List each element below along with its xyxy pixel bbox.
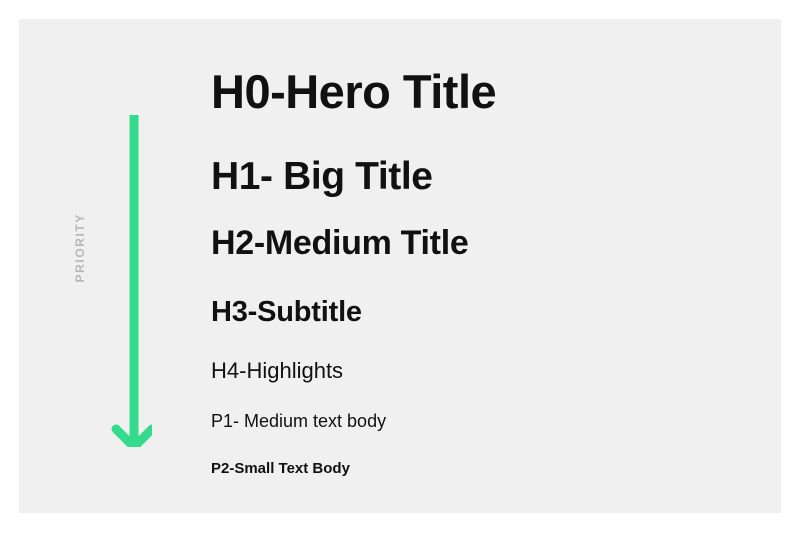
type-sample-h3: H3-Subtitle [211,296,362,329]
type-sample-h0: H0-Hero Title [211,64,496,119]
content-panel: PRIORITY H0-Hero Title H1- Big Title H2-… [19,19,781,513]
priority-axis: PRIORITY [19,19,219,513]
arrow-down-icon [96,85,152,447]
type-sample-p1: P1- Medium text body [211,411,386,432]
type-sample-h4: H4-Highlights [211,358,343,384]
typography-scale-canvas: PRIORITY H0-Hero Title H1- Big Title H2-… [0,0,800,533]
type-scale-list: H0-Hero Title H1- Big Title H2-Medium Ti… [211,19,781,513]
type-sample-h1: H1- Big Title [211,155,433,199]
type-sample-h2: H2-Medium Title [211,224,468,263]
type-sample-p2: P2-Small Text Body [211,460,350,477]
